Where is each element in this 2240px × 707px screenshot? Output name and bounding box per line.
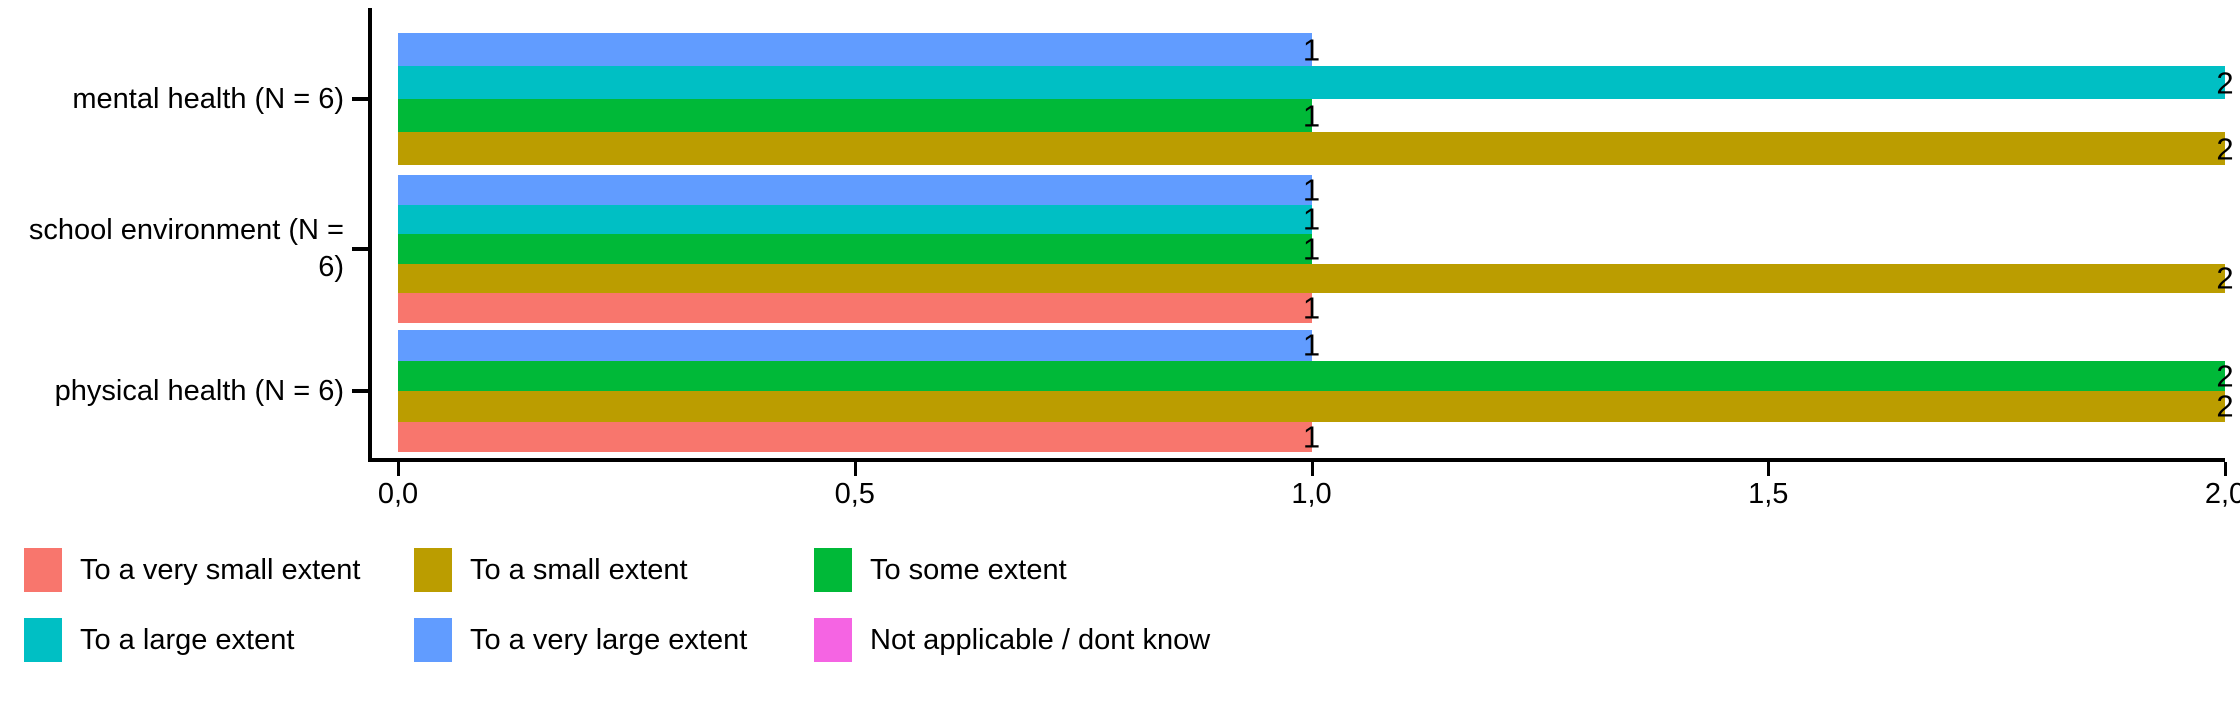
y-axis-label: mental health (N = 6) xyxy=(14,81,344,118)
legend-item[interactable]: To a very small extent xyxy=(24,548,360,592)
bar-value-label: 1 xyxy=(1303,34,1320,65)
x-axis-tick-label: 1,0 xyxy=(1291,478,1331,511)
bar-value-label: 2 xyxy=(2216,133,2233,164)
y-axis-tick xyxy=(352,97,368,101)
y-axis-label-line: physical health (N = 6) xyxy=(14,373,344,410)
legend-item[interactable]: Not applicable / dont know xyxy=(814,618,1210,662)
legend-item[interactable]: To a large extent xyxy=(24,618,294,662)
y-axis-label: physical health (N = 6) xyxy=(14,373,344,410)
y-axis-label-line: mental health (N = 6) xyxy=(14,81,344,118)
legend-label: To a small extent xyxy=(470,554,688,587)
bar xyxy=(398,132,2225,165)
x-axis-tick-label: 0,5 xyxy=(835,478,875,511)
legend-color-swatch xyxy=(24,618,62,662)
bar xyxy=(398,264,2225,294)
bar xyxy=(398,391,2225,422)
x-axis-tick xyxy=(1311,462,1314,476)
bar-value-label: 1 xyxy=(1303,292,1320,323)
x-axis-tick-label: 2,0 xyxy=(2205,478,2240,511)
y-axis-label-line: 6) xyxy=(14,249,344,286)
legend-label: To a large extent xyxy=(80,624,294,657)
legend-item[interactable]: To some extent xyxy=(814,548,1067,592)
plot-area: 1212111211221 xyxy=(398,8,2225,458)
bar xyxy=(398,99,1312,132)
bar xyxy=(398,66,2225,99)
y-axis-label: school environment (N =6) xyxy=(14,212,344,286)
bar-value-label: 1 xyxy=(1303,421,1320,452)
x-axis-tick xyxy=(397,462,400,476)
legend-item[interactable]: To a small extent xyxy=(414,548,688,592)
bar xyxy=(398,234,1312,264)
x-axis-line xyxy=(368,458,2225,462)
x-axis-tick xyxy=(1767,462,1770,476)
legend-color-swatch xyxy=(414,618,452,662)
legend-label: Not applicable / dont know xyxy=(870,624,1210,657)
bar-value-label: 1 xyxy=(1303,100,1320,131)
y-axis-label-line: school environment (N = xyxy=(14,212,344,249)
bar-value-label: 1 xyxy=(1303,174,1320,205)
legend-label: To a very large extent xyxy=(470,624,747,657)
bar-value-label: 1 xyxy=(1303,233,1320,264)
x-axis-tick xyxy=(854,462,857,476)
legend-color-swatch xyxy=(814,618,852,662)
bar-chart: mental health (N = 6)school environment … xyxy=(0,0,2240,707)
bar xyxy=(398,422,1312,453)
legend-label: To a very small extent xyxy=(80,554,360,587)
x-axis-tick-label: 1,5 xyxy=(1748,478,1788,511)
bar xyxy=(398,205,1312,235)
x-axis-tick-label: 0,0 xyxy=(378,478,418,511)
bar xyxy=(398,330,1312,361)
bar-value-label: 2 xyxy=(2216,263,2233,294)
legend-item[interactable]: To a very large extent xyxy=(414,618,747,662)
y-axis-tick xyxy=(352,389,368,393)
y-axis-tick xyxy=(352,247,368,251)
legend-color-swatch xyxy=(814,548,852,592)
legend-color-swatch xyxy=(24,548,62,592)
y-axis-line xyxy=(368,8,372,458)
bar-value-label: 1 xyxy=(1303,204,1320,235)
legend-color-swatch xyxy=(414,548,452,592)
x-axis-tick xyxy=(2224,462,2227,476)
legend-label: To some extent xyxy=(870,554,1067,587)
bar xyxy=(398,33,1312,66)
bar xyxy=(398,361,2225,392)
bar-value-label: 2 xyxy=(2216,360,2233,391)
bar xyxy=(398,175,1312,205)
bar-value-label: 2 xyxy=(2216,67,2233,98)
bar-value-label: 1 xyxy=(1303,330,1320,361)
bar-value-label: 2 xyxy=(2216,391,2233,422)
bar xyxy=(398,293,1312,323)
